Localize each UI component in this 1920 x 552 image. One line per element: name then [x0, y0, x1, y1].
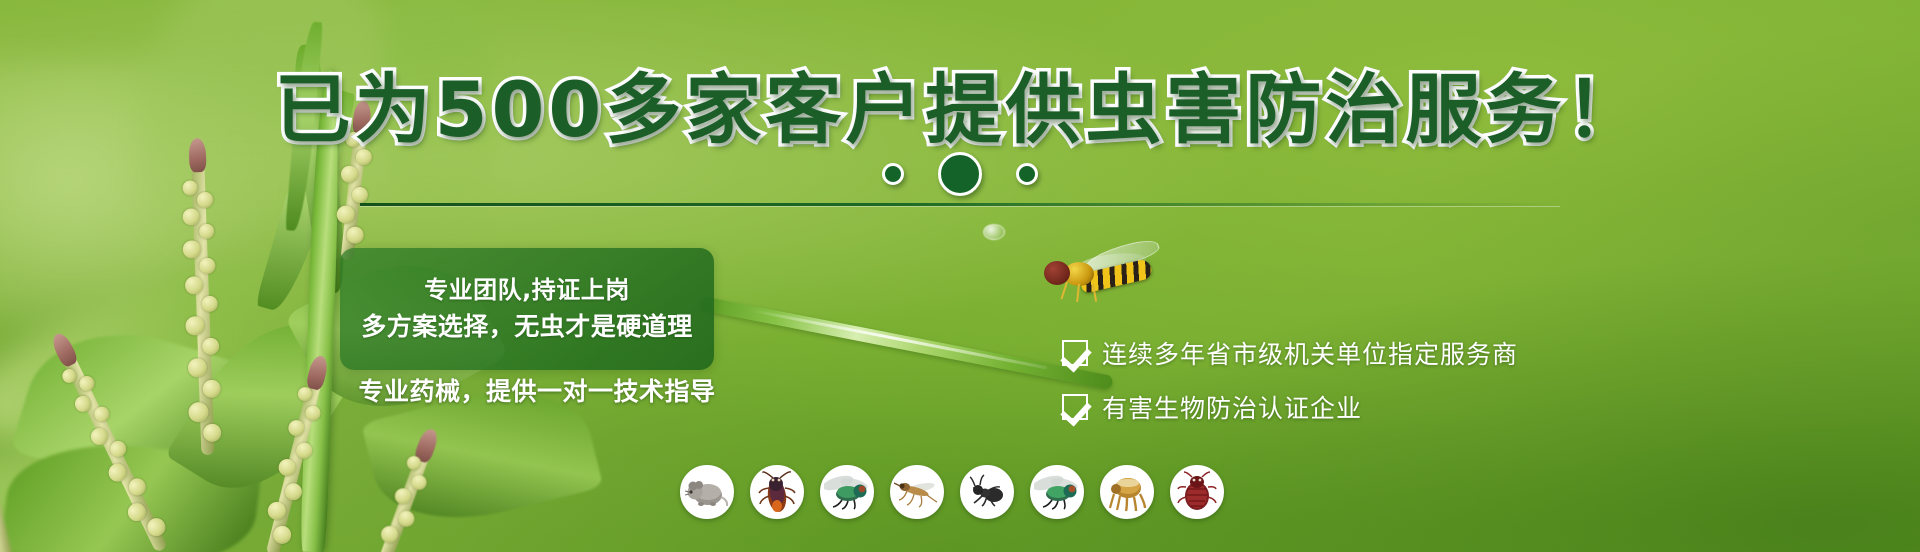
- header-divider: [360, 203, 1560, 206]
- mosquito-icon[interactable]: 蚊: [890, 465, 944, 519]
- decorative-dot: [1016, 163, 1038, 185]
- credential-item: 连续多年省市级机关单位指定服务商: [1062, 335, 1518, 371]
- blowfly-icon[interactable]: 绿头蝇: [1030, 465, 1084, 519]
- selling-point-line-2: 多方案选择，无虫才是硬道理: [350, 311, 704, 343]
- checkbox-checked-icon: [1062, 394, 1088, 420]
- hoverfly-leg: [1060, 282, 1067, 300]
- decorative-dot: [882, 163, 904, 185]
- hoverfly-icon: [1040, 248, 1156, 304]
- banner-headline-text: 已为500多家客户提供虫害防治服务！: [275, 65, 1646, 154]
- cockroach-icon[interactable]: 蟑螂: [750, 465, 804, 519]
- flea-icon[interactable]: 跳蚤: [1100, 465, 1154, 519]
- banner-headline: 已为500多家客户提供虫害防治服务！: [0, 72, 1920, 148]
- checkbox-checked-icon: [1062, 340, 1088, 366]
- hoverfly-leg: [1076, 284, 1080, 302]
- pest-control-hero-banner: 已为500多家客户提供虫害防治服务！ 专业团队,持证上岗 多方案选择，无虫才是硬…: [0, 0, 1920, 552]
- selling-points-panel: 专业团队,持证上岗 多方案选择，无虫才是硬道理: [340, 248, 714, 370]
- selling-point-line-1: 专业团队,持证上岗: [350, 275, 704, 306]
- mouse-icon[interactable]: 鼠: [680, 465, 734, 519]
- pest-icons-row: 鼠 蟑螂: [680, 465, 1224, 519]
- credential-label: 有害生物防治认证企业: [1102, 389, 1362, 425]
- water-droplet-icon: [983, 224, 1005, 240]
- selling-point-line-3: 专业药械，提供一对一技术指导: [340, 372, 734, 408]
- credential-item: 有害生物防治认证企业: [1062, 389, 1518, 425]
- decorative-dot: [938, 152, 982, 196]
- decorative-dots-row: [0, 152, 1920, 196]
- fly-icon[interactable]: 蝇: [820, 465, 874, 519]
- credential-label: 连续多年省市级机关单位指定服务商: [1102, 335, 1518, 371]
- ant-icon[interactable]: 蚂蚁: [960, 465, 1014, 519]
- bedbug-icon[interactable]: 臭虫: [1170, 465, 1224, 519]
- credentials-checklist: 连续多年省市级机关单位指定服务商 有害生物防治认证企业: [1062, 335, 1518, 425]
